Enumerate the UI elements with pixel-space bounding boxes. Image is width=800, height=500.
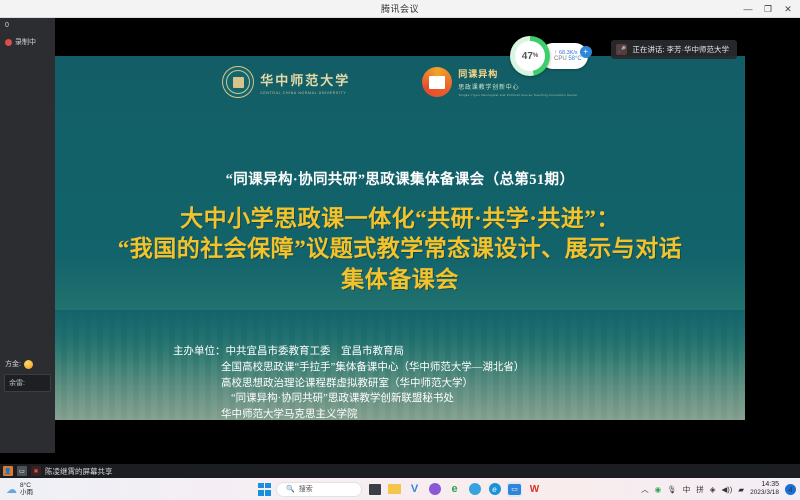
logo-ccnu-cn: 华中师范大学 xyxy=(260,70,350,89)
taskbar-app-wps-office[interactable]: W xyxy=(527,482,542,497)
minimize-button[interactable]: — xyxy=(738,0,758,18)
active-speaker-toast: 🎤 正在讲话: 李芳·华中师范大学 xyxy=(611,40,737,59)
tray-clock[interactable]: 14:35 2023/3/18 xyxy=(750,481,779,497)
cpu-usage-value: 47% xyxy=(515,41,545,71)
name-chip[interactable]: 余雷: xyxy=(4,374,51,392)
cpu-monitor-widget[interactable]: 47% ↑ 68.3K/s CPU 58°C + xyxy=(510,36,588,76)
window-controls: — ❐ ✕ xyxy=(738,0,798,18)
monitor-icon[interactable]: ▭ xyxy=(17,466,27,476)
logo-center-en: Tongke Yigou Ideological and Political C… xyxy=(458,93,578,97)
tencent-meeting-window: 腾讯会议 — ❐ ✕ 0 录制中 方金: 余雷: xyxy=(0,0,800,500)
cpu-temperature: 58°C xyxy=(568,56,581,62)
sidebar-recording[interactable]: 录制中 xyxy=(0,33,55,51)
user-icon[interactable]: 👤 xyxy=(3,466,13,476)
screen-share-bar: 👤 ▭ ✖ 陈凌继霄的屏幕共享 xyxy=(0,464,800,478)
taskbar-app-microsoft-edge[interactable]: e xyxy=(487,482,502,497)
organizer-line-3: 高校思想政治理论课程群虚拟教研室（华中师范大学） xyxy=(173,376,745,392)
organizer-line-4: “同课异构·协同共研”思政课教学创新联盟秘书处 xyxy=(173,391,745,407)
meeting-sidebar: 0 录制中 方金: 余雷: xyxy=(0,18,55,453)
gift-row[interactable]: 方金: xyxy=(0,357,55,371)
window-title: 腾讯会议 xyxy=(381,2,419,15)
tray-date: 2023/3/18 xyxy=(750,489,779,497)
tray-ime-pinyin[interactable]: 拼 xyxy=(696,484,704,495)
microphone-icon: 🎤 xyxy=(616,44,627,55)
tray-chevron-icon[interactable]: ︿ xyxy=(641,484,649,495)
start-button[interactable] xyxy=(258,483,271,496)
taskbar-app-internet-explorer[interactable]: e xyxy=(447,482,462,497)
book-emblem-icon xyxy=(422,67,452,97)
organizer-line-2: 全国高校思政课“手拉手”集体备课中心（华中师范大学—湖北省） xyxy=(173,360,745,376)
logo-center-sub: 思政课教学创新中心 xyxy=(458,82,578,91)
stop-share-icon[interactable]: ✖ xyxy=(31,466,41,476)
slide-main-title: 大中小学思政课一体化“共研·共学·共进”： “我国的社会保障”议题式教学常态课设… xyxy=(55,204,745,295)
cpu-label: CPU xyxy=(554,56,567,62)
presentation-slide: 华中师范大学 CENTRAL CHINA NORMAL UNIVERSITY 同… xyxy=(55,56,745,420)
taskbar-app-blue-circle[interactable] xyxy=(467,482,482,497)
slide-organizers: 主办单位：中共宜昌市委教育工委 宜昌市教育局 全国高校思政课“手拉手”集体备课中… xyxy=(55,344,745,420)
sidebar-participants[interactable]: 0 xyxy=(0,18,55,33)
taskbar-search[interactable]: 🔍 搜索 xyxy=(276,482,362,497)
university-seal-icon xyxy=(222,66,254,98)
close-button[interactable]: ✕ xyxy=(778,0,798,18)
coin-icon xyxy=(24,360,33,369)
system-tray: ︿ ◉ 🎙 中 拼 ◈ ◀)) ▰ 14:35 2023/3/18 4 xyxy=(641,481,796,497)
meeting-body: 0 录制中 方金: 余雷: xyxy=(0,18,800,500)
title-line-3: 集体备课会 xyxy=(55,265,745,295)
active-speaker-text: 正在讲话: 李芳·华中师范大学 xyxy=(632,44,729,55)
gift-label: 方金: xyxy=(5,359,21,369)
cpu-temp-row: CPU 58°C xyxy=(554,56,582,62)
logo-ccnu: 华中师范大学 CENTRAL CHINA NORMAL UNIVERSITY xyxy=(222,66,350,98)
title-line-2: “我国的社会保障”议题式教学常态课设计、展示与对话 xyxy=(55,234,745,264)
taskbar-app-purple[interactable] xyxy=(427,482,442,497)
screen-share-label: 陈凌继霄的屏幕共享 xyxy=(45,466,113,477)
taskbar-app-tencent-meeting[interactable]: ▭ xyxy=(507,482,522,497)
windows-taskbar: ☁ 8°C 小雨 🔍 搜索 V e e ▭ W ︿ ◉ 🎙 xyxy=(0,478,800,500)
tray-microphone-icon[interactable]: 🎙 xyxy=(667,485,677,494)
tray-battery-icon[interactable]: ▰ xyxy=(738,485,744,494)
search-icon: 🔍 xyxy=(286,485,295,493)
tray-time: 14:35 xyxy=(761,481,779,489)
sidebar-bottom-group: 方金: 余雷: xyxy=(0,357,55,395)
slide-logos: 华中师范大学 CENTRAL CHINA NORMAL UNIVERSITY 同… xyxy=(55,66,745,98)
cpu-percent-unit: % xyxy=(533,53,538,59)
slide-subtitle: “同课异构·协同共研”思政课集体备课会（总第51期） xyxy=(55,168,745,189)
recording-label: 录制中 xyxy=(15,37,36,47)
organizer-line-1: 主办单位：中共宜昌市委教育工委 宜昌市教育局 xyxy=(173,344,745,360)
cpu-usage-ring: 47% xyxy=(510,36,550,76)
tray-volume-icon[interactable]: ◀)) xyxy=(722,485,733,494)
maximize-button[interactable]: ❐ xyxy=(758,0,778,18)
tray-wifi-icon[interactable]: ◈ xyxy=(710,485,716,494)
taskbar-app-task-view[interactable] xyxy=(367,482,382,497)
search-placeholder: 搜索 xyxy=(299,484,313,494)
organizer-line-5: 华中师范大学马克思主义学院 xyxy=(173,407,745,420)
participants-count: 0 xyxy=(5,22,9,29)
notification-badge[interactable]: 4 xyxy=(785,484,796,495)
tray-antivirus-icon[interactable]: ◉ xyxy=(655,485,662,494)
recording-icon xyxy=(5,39,12,46)
window-titlebar: 腾讯会议 — ❐ ✕ xyxy=(0,0,800,18)
taskbar-app-file-explorer[interactable] xyxy=(387,482,402,497)
cpu-percent: 47 xyxy=(522,51,533,62)
logo-ccnu-en: CENTRAL CHINA NORMAL UNIVERSITY xyxy=(260,91,350,95)
tray-ime-chinese[interactable]: 中 xyxy=(683,484,691,495)
shared-screen-video[interactable]: 华中师范大学 CENTRAL CHINA NORMAL UNIVERSITY 同… xyxy=(55,18,745,453)
widget-expand-button[interactable]: + xyxy=(580,46,592,58)
title-line-1: 大中小学思政课一体化“共研·共学·共进”： xyxy=(55,204,745,234)
taskbar-app-tencent-docs[interactable]: V xyxy=(407,482,422,497)
